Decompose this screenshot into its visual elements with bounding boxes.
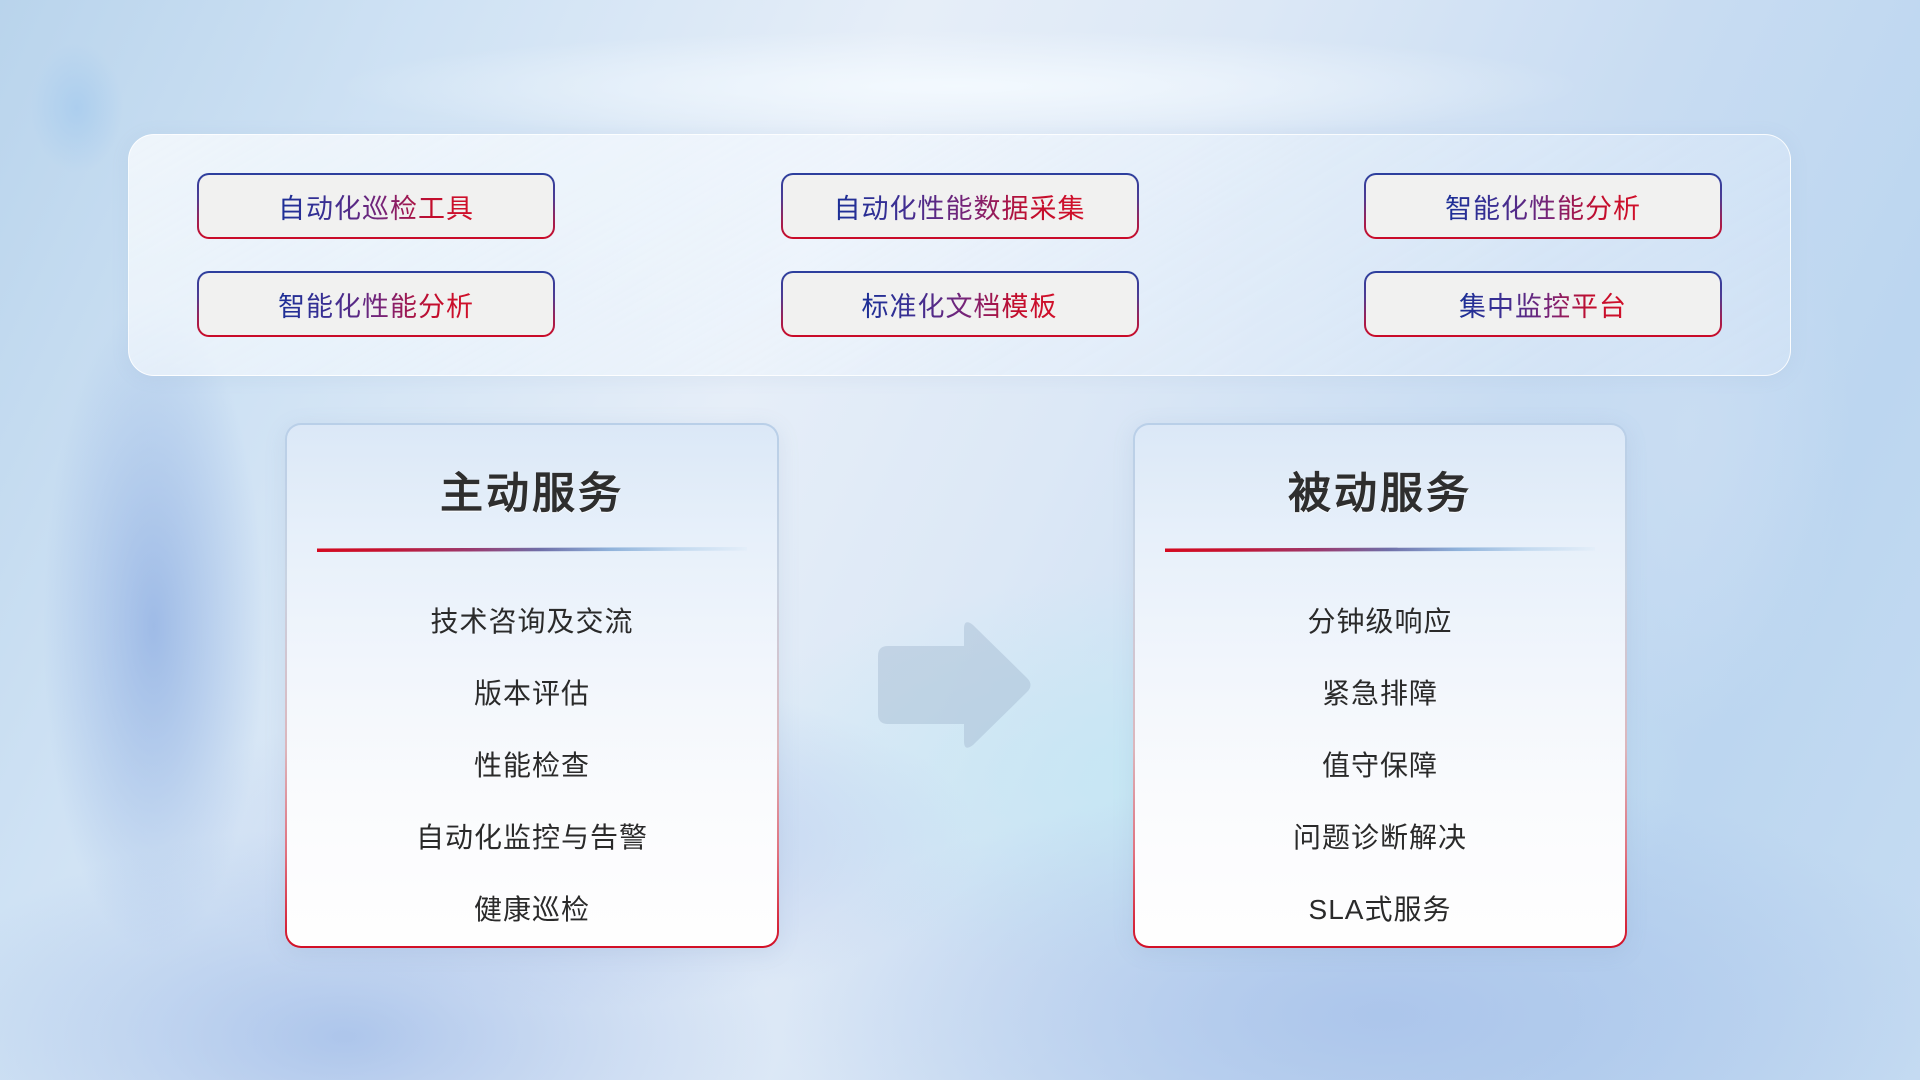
card-title: 被动服务 (1288, 459, 1472, 521)
card-divider (1165, 547, 1595, 552)
capability-pill-centralized-monitoring-platform[interactable]: 集中监控平台 (1364, 271, 1722, 337)
service-list-item: 自动化监控与告警 (416, 802, 648, 874)
capability-column-3: 智能化性能分析 集中监控平台 (1364, 173, 1722, 337)
capability-pill-automation-inspection-tool[interactable]: 自动化巡检工具 (197, 173, 555, 239)
capability-pill-intelligent-performance-analysis-2[interactable]: 智能化性能分析 (1364, 173, 1722, 239)
right-arrow-icon (872, 620, 1034, 750)
capability-pill-standardized-document-template[interactable]: 标准化文档模板 (781, 271, 1139, 337)
card-title: 主动服务 (440, 459, 624, 521)
card-divider (317, 547, 747, 552)
capability-panel: 自动化巡检工具 智能化性能分析 自动化性能数据采集 标准化文档模板 智能化性能分… (128, 134, 1791, 376)
capability-pill-label: 标准化文档模板 (862, 285, 1058, 324)
service-list-item: 技术咨询及交流 (430, 586, 633, 658)
capability-pill-automated-performance-data-collection[interactable]: 自动化性能数据采集 (781, 173, 1139, 239)
service-card-reactive: 被动服务 分钟级响应 紧急排障 值守保障 问题诊断解决 SLA式服务 (1133, 423, 1627, 948)
service-list-item: 紧急排障 (1322, 658, 1438, 730)
capability-pill-label: 自动化巡检工具 (278, 187, 474, 226)
capability-pill-label: 自动化性能数据采集 (834, 187, 1086, 226)
capability-pill-label: 集中监控平台 (1459, 285, 1627, 324)
capability-column-2: 自动化性能数据采集 标准化文档模板 (781, 173, 1139, 337)
capability-pill-intelligent-performance-analysis-1[interactable]: 智能化性能分析 (197, 271, 555, 337)
service-list-item: SLA式服务 (1309, 874, 1452, 946)
service-list-item: 值守保障 (1322, 730, 1438, 802)
capability-pill-label: 智能化性能分析 (1445, 187, 1641, 226)
slide-canvas: 自动化巡检工具 智能化性能分析 自动化性能数据采集 标准化文档模板 智能化性能分… (0, 0, 1920, 1080)
service-list-item: 版本评估 (474, 658, 590, 730)
capability-pill-label: 智能化性能分析 (278, 285, 474, 324)
service-list-item: 性能检查 (474, 730, 590, 802)
service-card-proactive: 主动服务 技术咨询及交流 版本评估 性能检查 自动化监控与告警 健康巡检 (285, 423, 779, 948)
service-item-list: 技术咨询及交流 版本评估 性能检查 自动化监控与告警 健康巡检 (313, 586, 751, 946)
service-item-list: 分钟级响应 紧急排障 值守保障 问题诊断解决 SLA式服务 (1161, 586, 1599, 946)
service-list-item: 健康巡检 (474, 874, 590, 946)
service-list-item: 分钟级响应 (1307, 586, 1452, 658)
capability-column-1: 自动化巡检工具 智能化性能分析 (197, 173, 555, 337)
service-list-item: 问题诊断解决 (1293, 802, 1467, 874)
